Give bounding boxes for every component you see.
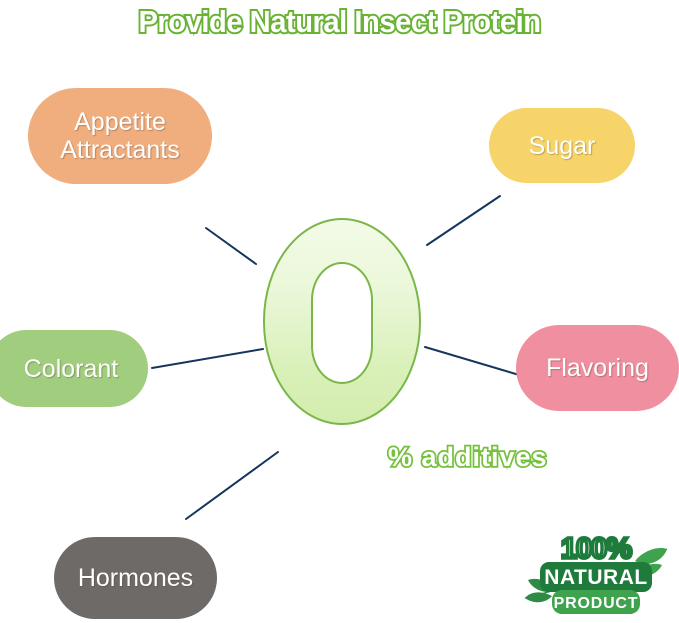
pill-sugar[interactable]: Sugar	[489, 108, 635, 183]
central-zero	[263, 218, 421, 425]
connector-line-flavoring	[425, 347, 526, 377]
pill-sugar-label: Sugar	[529, 132, 596, 160]
connector-line-appetite	[206, 228, 256, 264]
pill-appetite-label-line1: Appetite	[74, 108, 166, 136]
additives-caption: % additives	[388, 442, 548, 473]
badge-percent-text: 100%	[561, 533, 632, 565]
zero-inner-hole	[311, 262, 373, 384]
connector-line-hormones	[186, 452, 278, 519]
infographic-canvas: Provide Natural Insect Protein % additiv…	[0, 0, 679, 623]
badge-product-text: PRODUCT	[554, 595, 639, 612]
pill-flavoring-label: Flavoring	[546, 354, 649, 382]
pill-appetite-attractants[interactable]: Appetite Attractants	[28, 88, 212, 184]
connector-line-colorant	[152, 349, 263, 368]
pill-colorant[interactable]: Colorant	[0, 330, 148, 407]
pill-hormones-label: Hormones	[78, 564, 193, 592]
natural-product-badge: 100% NATURAL PRODUCT	[522, 528, 670, 620]
pill-colorant-label: Colorant	[24, 355, 119, 383]
badge-natural-text: NATURAL	[544, 566, 647, 589]
pill-hormones[interactable]: Hormones	[54, 537, 217, 619]
connector-line-sugar	[427, 196, 500, 245]
pill-flavoring[interactable]: Flavoring	[516, 325, 679, 411]
pill-appetite-label-line2: Attractants	[60, 136, 180, 164]
pill-appetite-label: Appetite Attractants	[60, 108, 180, 164]
